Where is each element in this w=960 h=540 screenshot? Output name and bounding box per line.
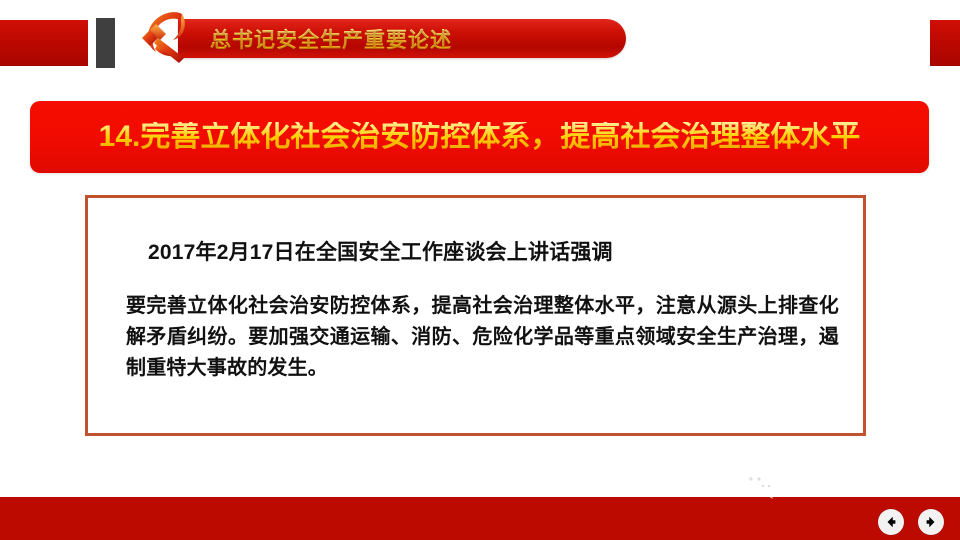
party-emblem-icon [136, 8, 196, 66]
slide-root: 总书记安全生产重要论述 [0, 0, 960, 540]
next-slide-button[interactable] [918, 509, 944, 535]
header-deco-red-left [0, 20, 88, 66]
slide-nav-group [878, 509, 944, 535]
prev-slide-button[interactable] [878, 509, 904, 535]
header-deco-gray-bar [96, 18, 115, 68]
slide-title-text: 14.完善立体化社会治安防控体系，提高社会治理整体水平 [99, 122, 861, 152]
content-body-paragraph: 要完善立体化社会治安防控体系，提高社会治理整体水平，注意从源头上排查化解矛盾纠纷… [126, 291, 839, 384]
header-deco-red-right [930, 20, 960, 66]
wechat-icon [742, 470, 776, 500]
arrow-right-icon [924, 515, 938, 529]
arrow-left-icon [884, 515, 898, 529]
content-box: 2017年2月17日在全国安全工作座谈会上讲话强调 要完善立体化社会治安防控体系… [85, 195, 866, 436]
header-banner-title: 总书记安全生产重要论述 [210, 24, 452, 54]
slide-title-bar: 14.完善立体化社会治安防控体系，提高社会治理整体水平 [30, 101, 929, 173]
header-banner: 总书记安全生产重要论述 [178, 19, 626, 58]
content-date-line: 2017年2月17日在全国安全工作座谈会上讲话强调 [148, 236, 613, 266]
footer-bar [0, 497, 960, 540]
